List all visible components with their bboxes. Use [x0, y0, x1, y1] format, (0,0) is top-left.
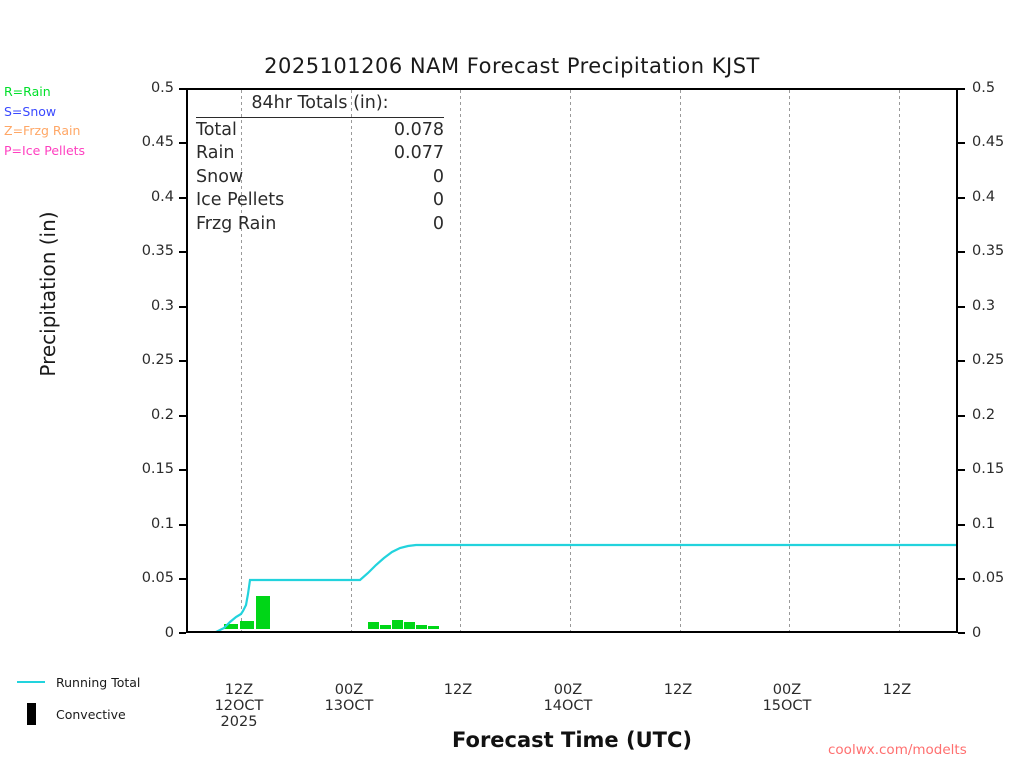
totals-box: 84hr Totals (in): Total 0.078 Rain 0.077… [196, 92, 444, 237]
xtick-3: 00Z 14OCT [508, 682, 628, 714]
ytick-right-8: 0.1 [972, 516, 995, 532]
xtick-time: 00Z [335, 682, 363, 698]
ytick-left-6: 0.2 [151, 407, 174, 423]
xtick-6: 12Z [837, 682, 957, 698]
legend-frzg-rain: Z=Frzg Rain [4, 121, 85, 141]
tickmark-right-6 [958, 415, 965, 417]
ytick-right-4: 0.3 [972, 298, 995, 314]
tickmark-right-10 [958, 632, 965, 634]
ytick-right-6: 0.2 [972, 407, 995, 423]
tickmark-right-3 [958, 251, 965, 253]
xtick-time: 12Z [444, 682, 472, 698]
xtick-time: 00Z [554, 682, 582, 698]
tickmark-right-8 [958, 524, 965, 526]
xtick-date: 13OCT [289, 698, 409, 714]
tickmark-left-2 [179, 197, 186, 199]
ytick-left-9: 0.05 [142, 570, 174, 586]
ytick-right-10: 0 [972, 625, 981, 641]
tickmark-left-7 [179, 469, 186, 471]
tickmark-right-7 [958, 469, 965, 471]
ytick-right-2: 0.4 [972, 189, 995, 205]
xtick-date: 15OCT [727, 698, 847, 714]
tickmark-left-4 [179, 306, 186, 308]
line-swatch-icon [14, 681, 48, 683]
ytick-right-0: 0.5 [972, 80, 995, 96]
ytick-left-1: 0.45 [142, 134, 174, 150]
xtick-time: 12Z [225, 682, 253, 698]
series-legend: Running Total Convective [14, 666, 140, 730]
totals-row: Frzg Rain 0 [196, 213, 444, 237]
ytick-left-8: 0.1 [151, 516, 174, 532]
ytick-left-3: 0.35 [142, 243, 174, 259]
totals-value: 0 [433, 213, 444, 237]
tickmark-left-0 [179, 88, 186, 90]
ytick-left-2: 0.4 [151, 189, 174, 205]
tickmark-right-9 [958, 578, 965, 580]
tickmark-right-5 [958, 360, 965, 362]
xtick-4: 12Z [618, 682, 738, 698]
ytick-left-5: 0.25 [142, 352, 174, 368]
tickmark-right-4 [958, 306, 965, 308]
xtick-date: 12OCT [179, 698, 299, 714]
totals-label: Total [196, 119, 237, 143]
ytick-right-9: 0.05 [972, 570, 1004, 586]
bar-swatch-icon [14, 703, 48, 725]
xtick-2: 12Z [398, 682, 518, 698]
ytick-left-7: 0.15 [142, 461, 174, 477]
totals-value: 0 [433, 189, 444, 213]
totals-label: Ice Pellets [196, 189, 284, 213]
totals-value: 0.078 [394, 119, 444, 143]
xtick-time: 12Z [883, 682, 911, 698]
tickmark-right-2 [958, 197, 965, 199]
totals-row: Rain 0.077 [196, 142, 444, 166]
tickmark-left-8 [179, 524, 186, 526]
xtick-time: 12Z [664, 682, 692, 698]
totals-row: Total 0.078 [196, 119, 444, 143]
xtick-1: 00Z 13OCT [289, 682, 409, 714]
totals-label: Frzg Rain [196, 213, 276, 237]
xtick-5: 00Z 15OCT [727, 682, 847, 714]
tickmark-left-6 [179, 415, 186, 417]
tickmark-left-5 [179, 360, 186, 362]
tickmark-left-10 [179, 632, 186, 634]
totals-title: 84hr Totals (in): [196, 92, 444, 118]
xtick-date: 14OCT [508, 698, 628, 714]
totals-label: Snow [196, 166, 243, 190]
totals-label: Rain [196, 142, 234, 166]
watermark: coolwx.com/modelts [828, 742, 967, 758]
ytick-right-5: 0.25 [972, 352, 1004, 368]
ytick-right-1: 0.45 [972, 134, 1004, 150]
legend-label: Convective [56, 707, 126, 722]
legend-running-total: Running Total [14, 666, 140, 698]
xtick-0: 12Z 12OCT 2025 [179, 682, 299, 730]
ytick-left-10: 0 [165, 625, 174, 641]
totals-value: 0.077 [394, 142, 444, 166]
tickmark-left-3 [179, 251, 186, 253]
page-title: 2025101206 NAM Forecast Precipitation KJ… [0, 54, 1024, 78]
tickmark-left-1 [179, 142, 186, 144]
totals-row: Ice Pellets 0 [196, 189, 444, 213]
ytick-left-0: 0.5 [151, 80, 174, 96]
totals-value: 0 [433, 166, 444, 190]
ytick-left-4: 0.3 [151, 298, 174, 314]
xtick-time: 00Z [773, 682, 801, 698]
chart-page: 2025101206 NAM Forecast Precipitation KJ… [0, 0, 1024, 768]
ytick-right-7: 0.15 [972, 461, 1004, 477]
y-axis-label: Precipitation (in) [36, 154, 60, 434]
legend-convective: Convective [14, 698, 140, 730]
totals-row: Snow 0 [196, 166, 444, 190]
tickmark-right-0 [958, 88, 965, 90]
legend-rain: R=Rain [4, 82, 85, 102]
tickmark-right-1 [958, 142, 965, 144]
legend-snow: S=Snow [4, 102, 85, 122]
precip-type-legend: R=Rain S=Snow Z=Frzg Rain P=Ice Pellets [4, 82, 85, 160]
ytick-right-3: 0.35 [972, 243, 1004, 259]
legend-label: Running Total [56, 675, 140, 690]
tickmark-left-9 [179, 578, 186, 580]
